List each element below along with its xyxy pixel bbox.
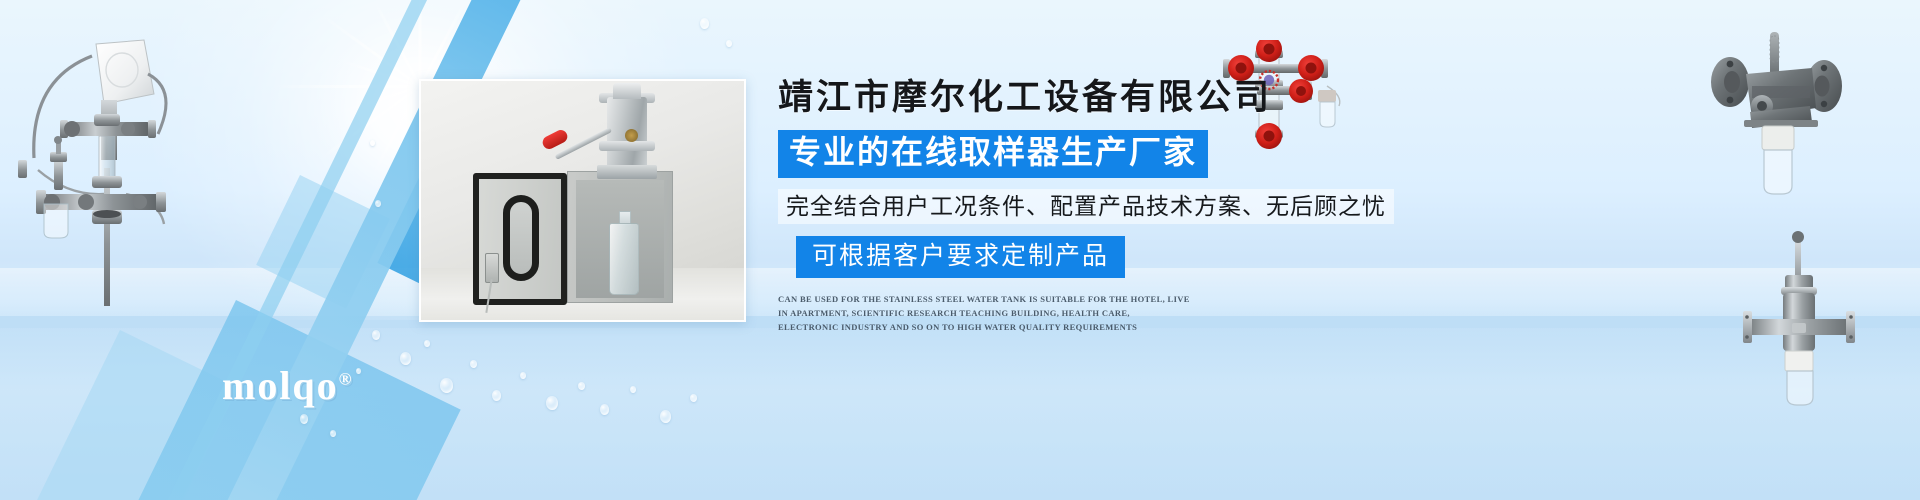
product-photo-cabinet-sampler <box>419 79 746 322</box>
tagline-primary: 专业的在线取样器生产厂家 <box>778 130 1208 178</box>
water-droplet <box>726 40 732 47</box>
product-render-inline-sampler <box>1735 225 1865 410</box>
company-name: 靖江市摩尔化工设备有限公司 <box>778 76 1398 120</box>
watermark-text: molqo <box>222 363 339 408</box>
watermark-logo: molqo® <box>222 362 353 409</box>
product-render-left <box>8 18 188 308</box>
tagline-description: 完全结合用户工况条件、配置产品技术方案、无后顾之忧 <box>778 189 1394 225</box>
promo-banner: 靖江市摩尔化工设备有限公司 专业的在线取样器生产厂家 完全结合用户工况条件、配置… <box>0 0 1920 500</box>
tagline-custom-order: 可根据客户要求定制产品 <box>796 236 1125 278</box>
product-render-flanged-lever-sampler <box>1700 30 1860 220</box>
water-droplet <box>700 18 709 29</box>
registered-mark: ® <box>339 370 354 389</box>
english-description: CAN BE USED FOR THE STAINLESS STEEL WATE… <box>778 292 1190 334</box>
headline-text-block: 靖江市摩尔化工设备有限公司 专业的在线取样器生产厂家 完全结合用户工况条件、配置… <box>778 76 1398 334</box>
water-droplet <box>370 140 375 146</box>
